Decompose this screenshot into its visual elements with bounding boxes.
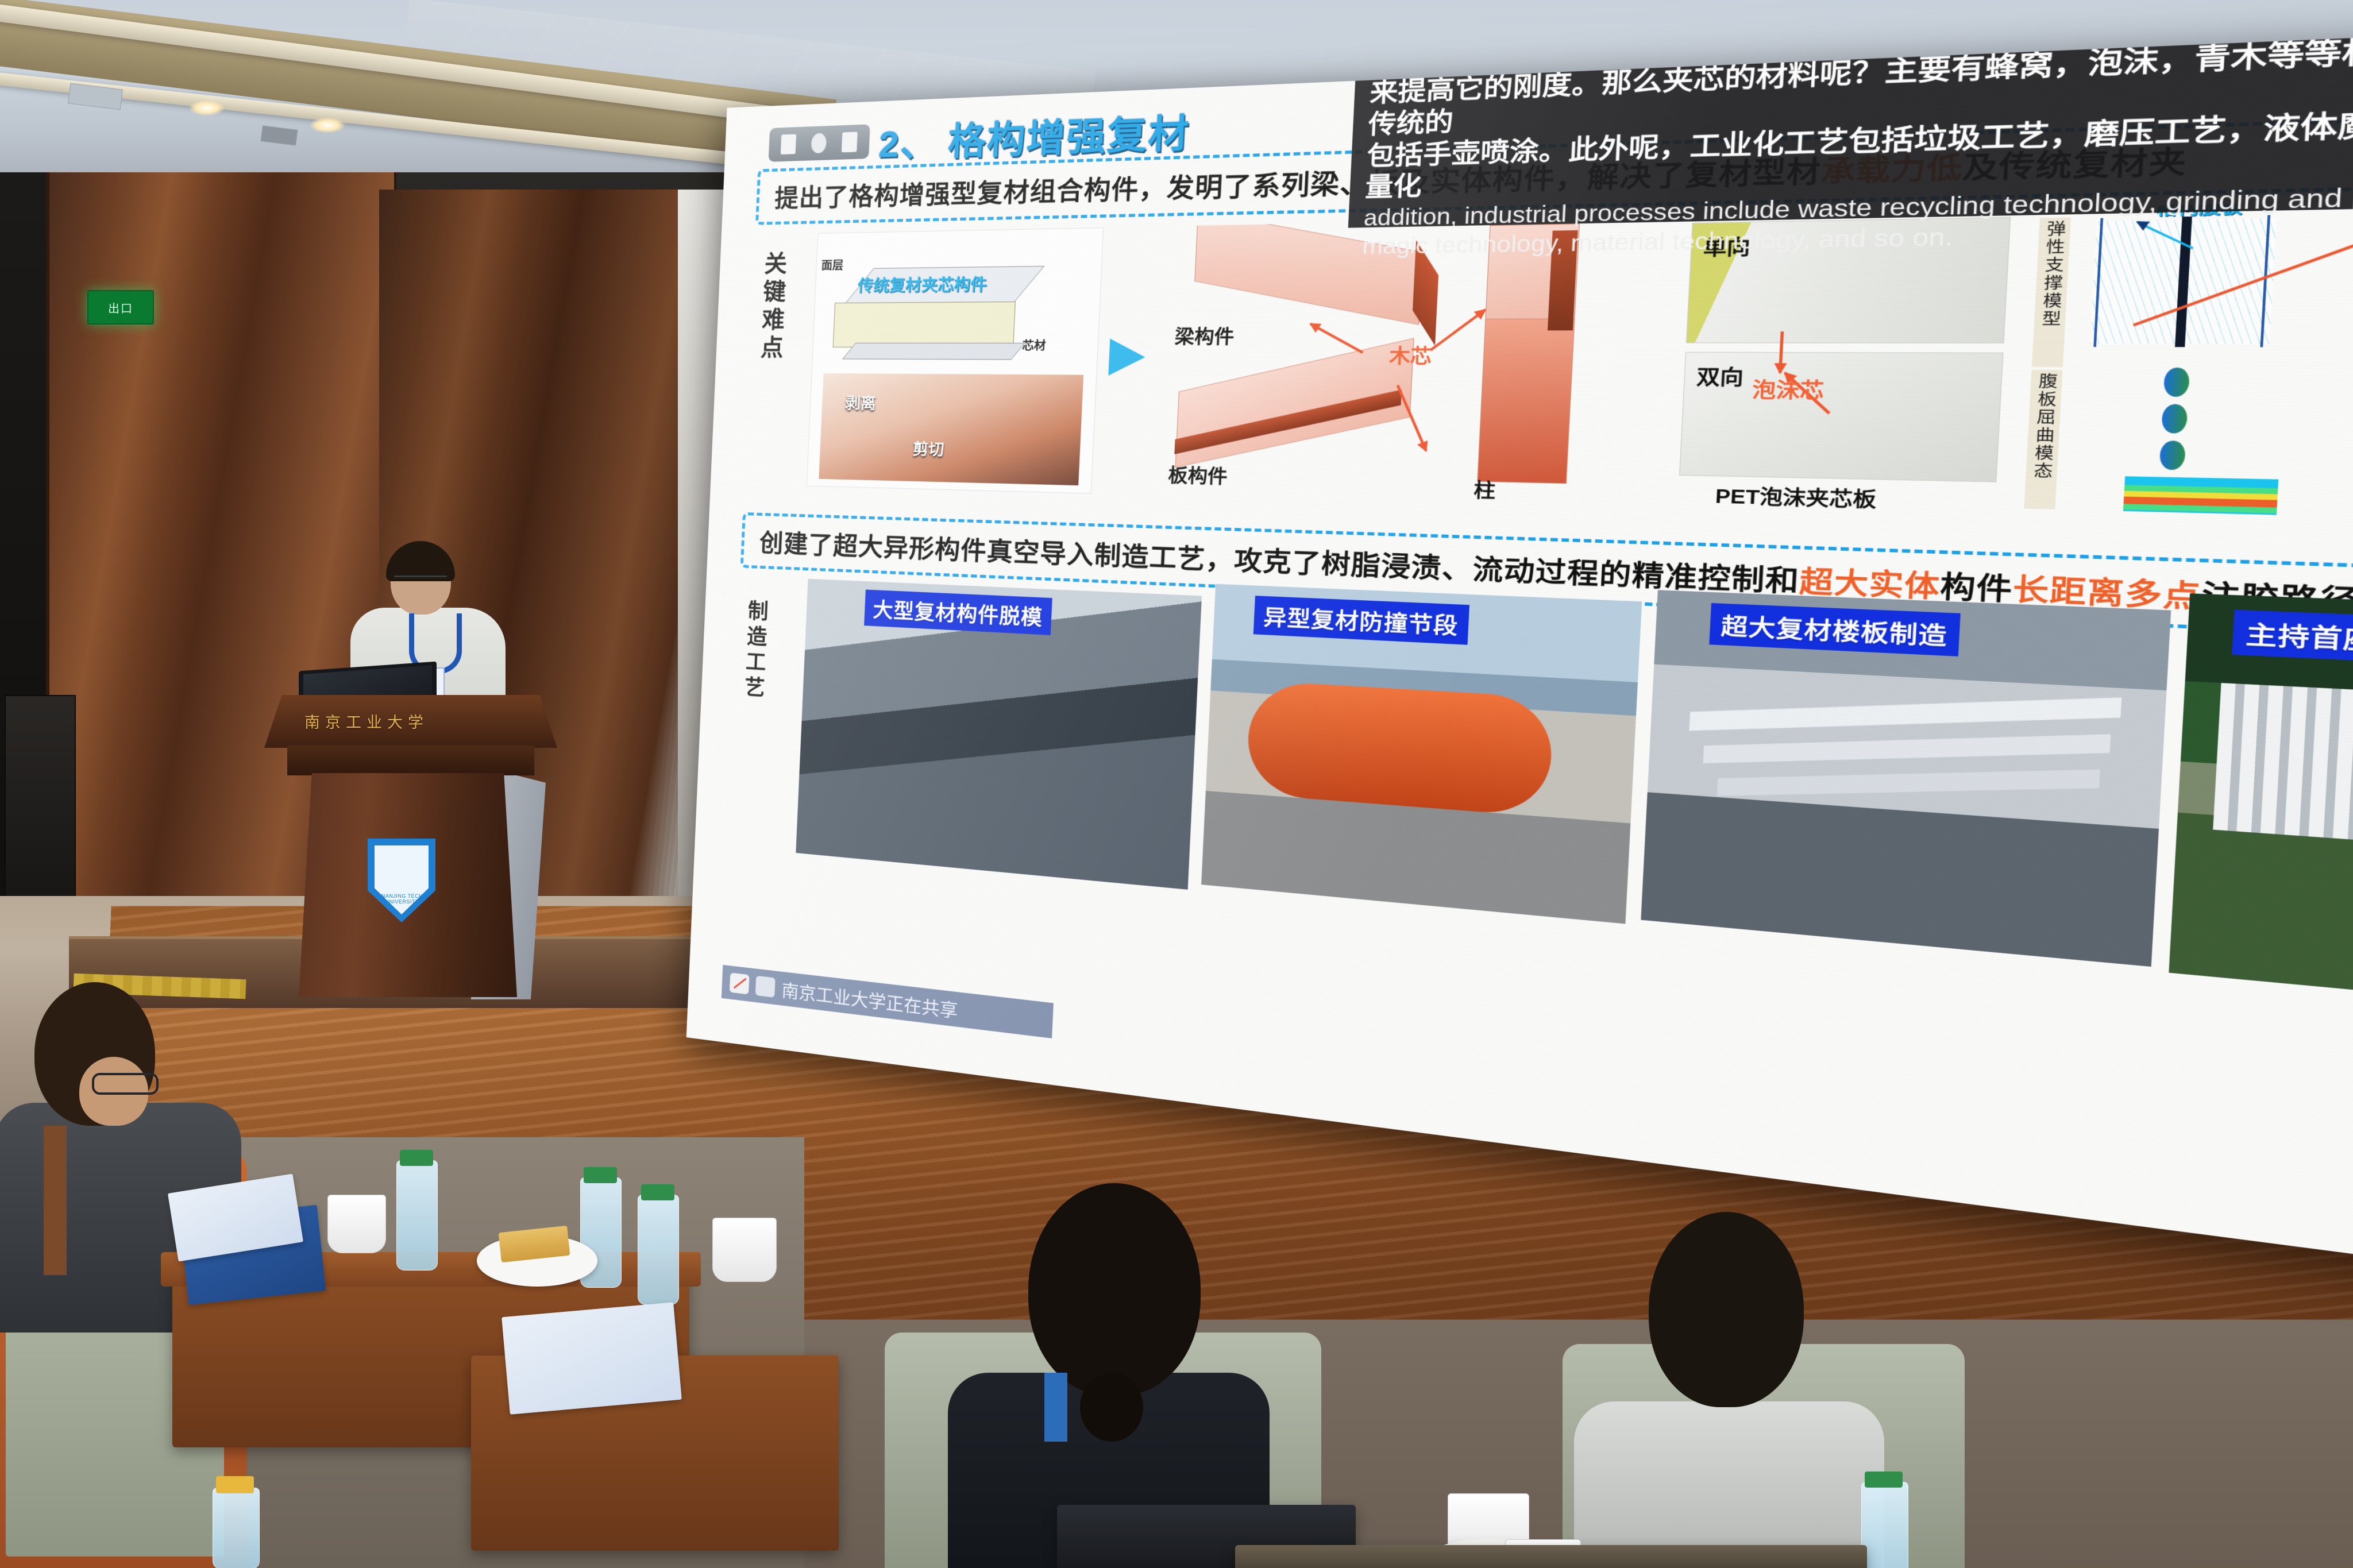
panel-icon [841, 132, 857, 152]
column-figure [1477, 318, 1575, 484]
head [1649, 1212, 1804, 1407]
wood-core-arrow-icon [1310, 323, 1364, 354]
water-bottle [638, 1195, 679, 1305]
panel-pet-foam: 单向 双向 泡沫芯 PET泡沫夹芯板 [1669, 209, 2035, 524]
anticollision-segment [1245, 680, 1554, 817]
sandwich-core [833, 302, 1016, 347]
circle-icon [811, 133, 827, 153]
water-bottle [1861, 1482, 1908, 1568]
ceiling-light [310, 118, 345, 133]
water-bottle [213, 1488, 260, 1568]
glasses-icon [394, 576, 447, 589]
label-shear: 剪切 [912, 437, 944, 460]
document-icon [781, 134, 796, 155]
fem-contour-plot [2123, 476, 2278, 518]
exit-sign: 出口 [87, 290, 154, 325]
label-traditional-sandwich: 传统复材夹芯构件 [857, 272, 988, 296]
bottle-cap [641, 1184, 674, 1200]
bottle-cap [216, 1476, 254, 1493]
label-foam-core: 泡沫芯 [1752, 373, 1825, 404]
presentation-room-photo: 出口 南京工业大学 NANJING TECH UN [0, 0, 2353, 1568]
photo-building [2169, 593, 2353, 1042]
label-wood-core: 木芯 [1388, 340, 1432, 369]
slide-title-text: 格构增强复材 [947, 102, 1191, 165]
label-web-buckling-mode: 腹板屈曲模态 [2024, 370, 2062, 512]
coffee-cup [712, 1218, 777, 1282]
label-facesheet: 面层 [821, 257, 844, 273]
ceiling-sensor [261, 125, 298, 145]
podium-university-name: 南京工业大学 [304, 710, 465, 729]
slab-layer [1717, 770, 2100, 796]
title-decoration-chip [769, 124, 870, 162]
label-plate-member: 板构件 [1168, 459, 1228, 488]
notebook [502, 1302, 682, 1415]
row2-side-label: 制造工艺 [738, 599, 772, 702]
bottle-cap [400, 1150, 433, 1166]
bottle-cap [1865, 1472, 1903, 1488]
row2-text-mid: 构件 [1939, 570, 2014, 607]
label-pet-foam-panel: PET泡沫夹芯板 [1715, 480, 1877, 513]
podium-trim [287, 746, 534, 775]
transform-arrow-icon [1108, 338, 1146, 376]
exit-sign-label: 出口 [108, 299, 133, 316]
hair-bun [1080, 1373, 1143, 1442]
wood-core-arrow-icon [1430, 308, 1486, 351]
panel-members: 梁构件 板构件 柱 木芯 [1154, 217, 1661, 507]
slide-title-number: 2、 [878, 112, 940, 168]
bottle-cap [584, 1167, 617, 1183]
label-beam-member: 梁构件 [1174, 321, 1235, 349]
lanyard [1044, 1373, 1067, 1442]
sandwich-bottom-face [842, 343, 1025, 360]
label-two-way: 双向 [1696, 360, 1744, 391]
failure-photo [819, 373, 1083, 485]
water-bottle [396, 1160, 438, 1270]
glasses-icon [92, 1073, 159, 1095]
torso [1574, 1401, 1884, 1568]
label-delamination: 剥离 [845, 391, 877, 414]
coffee-cup [327, 1195, 386, 1253]
label-column: 柱 [1473, 474, 1496, 503]
row1-side-label: 关键难点 [753, 251, 790, 363]
head [1028, 1183, 1201, 1396]
crest-caption: NANJING TECH UNIVERSITY [369, 893, 435, 905]
podium: 南京工业大学 NANJING TECH UNIVERSITY [299, 695, 523, 994]
label-core-material: 芯材 [1022, 337, 1047, 353]
slab-layer [1689, 697, 2121, 731]
table-right [1235, 1545, 1867, 1568]
audience-foreground [0, 988, 2353, 1568]
panel-traditional-sandwich: 传统复材夹芯构件 面层 芯材 剥离 剪切 [807, 227, 1104, 494]
ceiling-light [190, 101, 224, 115]
audience-member-right [1608, 1212, 1850, 1568]
lanyard [44, 1126, 67, 1275]
slab-layer [1703, 734, 2111, 763]
building-facade-fins [2213, 683, 2353, 878]
conference-room: 出口 南京工业大学 NANJING TECH UN [0, 0, 2353, 1568]
